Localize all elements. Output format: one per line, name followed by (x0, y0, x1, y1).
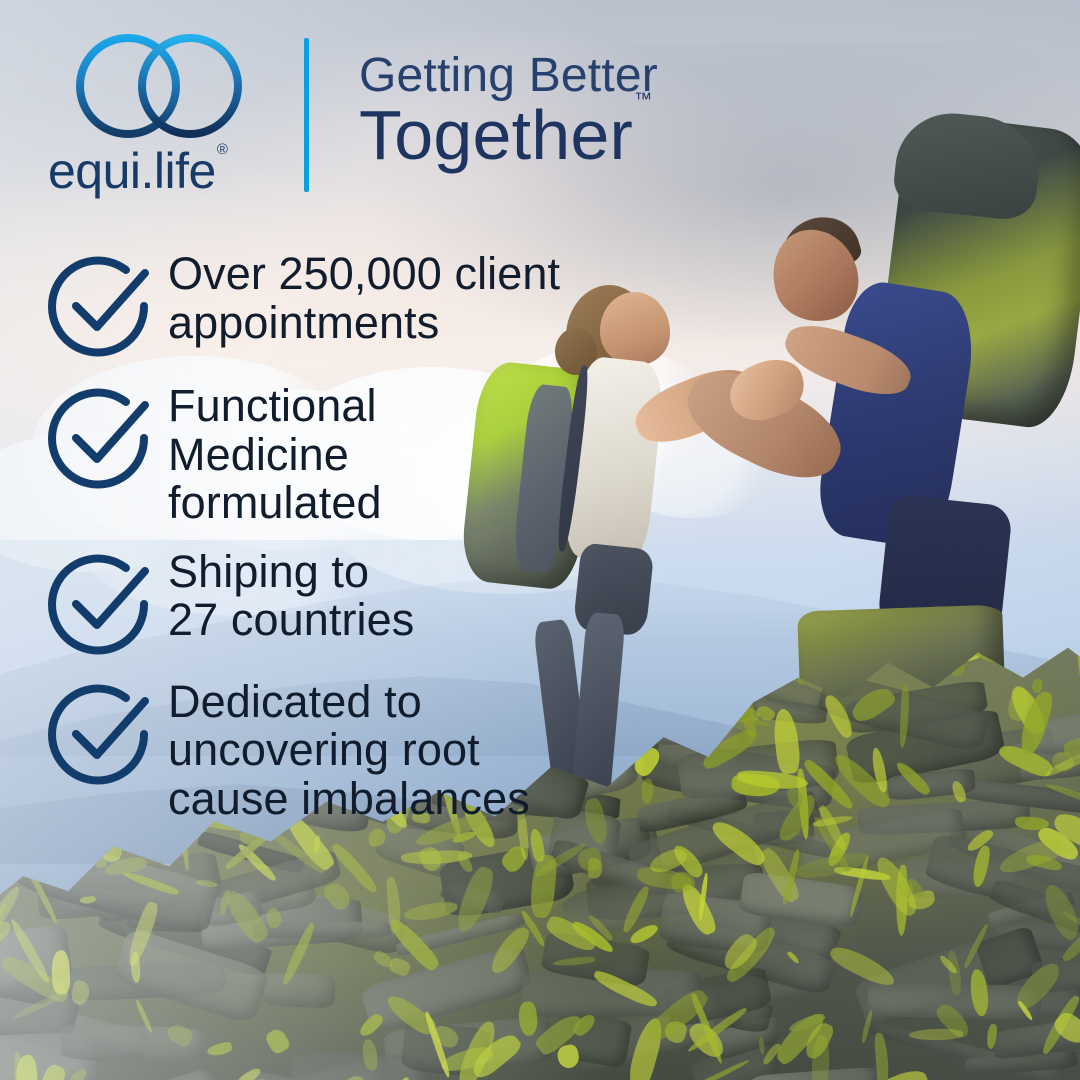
feature-text-line: Medicine (168, 429, 349, 480)
feature-list: Over 250,000 client appointments Functio… (44, 248, 664, 850)
feature-text-line: 27 countries (168, 594, 414, 645)
feature-item: Functional Medicine formulated (44, 380, 664, 528)
feature-text-line: uncovering root (168, 724, 480, 775)
brand-header: equi.life® Getting Better Together™ (46, 30, 658, 196)
brand-divider (304, 38, 309, 192)
logo-lockup[interactable]: equi.life® (46, 30, 274, 196)
check-circle-icon (44, 546, 156, 654)
trademark-symbol: ™ (634, 89, 652, 109)
feature-text-line: cause imbalances (168, 773, 530, 824)
wordmark: equi.life® (48, 146, 226, 196)
tagline: Getting Better Together™ (359, 52, 658, 171)
tagline-line-1: Getting Better (359, 52, 658, 101)
tagline-line-2: Together™ (359, 100, 658, 170)
feature-text: Functional Medicine formulated (168, 380, 382, 528)
tagline-line-2-text: Together (359, 96, 633, 174)
check-circle-icon (44, 380, 156, 488)
feature-text-line: Functional (168, 380, 377, 431)
feature-text: Over 250,000 client appointments (168, 248, 560, 347)
feature-text-line: Dedicated to (168, 676, 422, 727)
two-overlapping-circles-icon (72, 30, 252, 142)
feature-text: Dedicated to uncovering root cause imbal… (168, 676, 530, 824)
feature-text: Shiping to 27 countries (168, 546, 414, 645)
registered-trademark-symbol: ® (217, 141, 228, 158)
wordmark-text: equi.life (48, 143, 216, 199)
feature-item: Shiping to 27 countries (44, 546, 664, 654)
check-circle-icon (44, 248, 156, 356)
promo-graphic: equi.life® Getting Better Together™ Over… (0, 0, 1080, 1080)
feature-text-line: formulated (168, 477, 382, 528)
feature-item: Over 250,000 client appointments (44, 248, 664, 356)
feature-text-line: Shiping to (168, 546, 369, 597)
feature-text-line: Over 250,000 client (168, 248, 560, 299)
content-overlay: equi.life® Getting Better Together™ Over… (0, 0, 1080, 1080)
feature-text-line: appointments (168, 297, 439, 348)
check-circle-icon (44, 676, 156, 784)
feature-item: Dedicated to uncovering root cause imbal… (44, 676, 664, 824)
